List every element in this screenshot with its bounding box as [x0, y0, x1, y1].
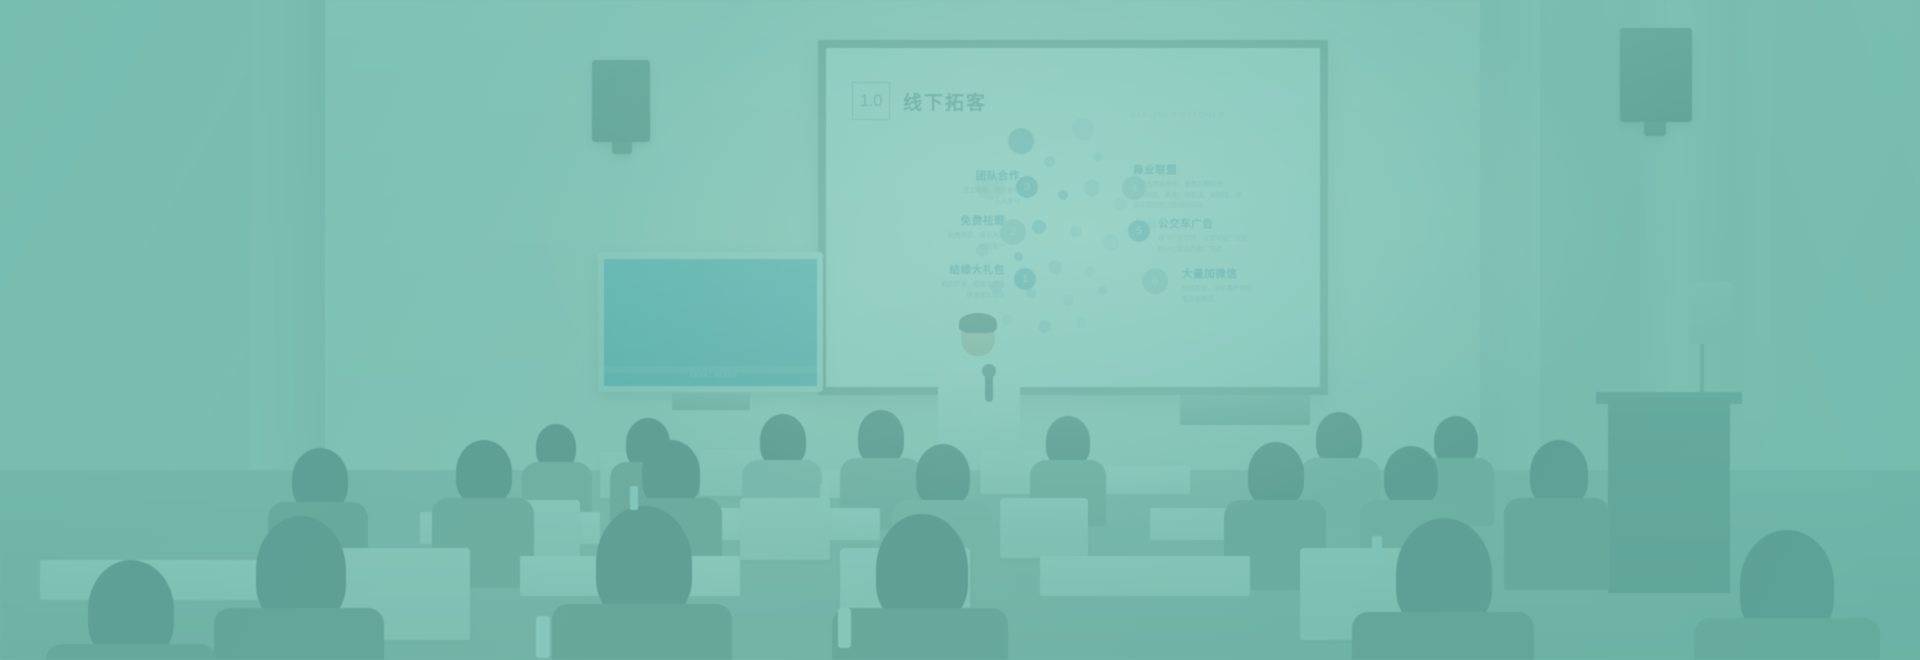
classroom-photograph: 1.0 线下拓客 OFFLINE CUSTOMER 团队合作 分工明确，团队协作… — [0, 0, 1920, 660]
water-bottle — [838, 608, 851, 648]
bubble — [1070, 226, 1081, 237]
wall-pillar — [250, 0, 325, 500]
audience-body-foreground — [1694, 618, 1880, 660]
slide-number-badge: 1.0 — [852, 82, 890, 120]
desk — [1040, 556, 1250, 596]
slide-marker-2: 2 — [1000, 219, 1026, 245]
audience-head — [916, 444, 970, 506]
audience-head — [1316, 412, 1362, 464]
audience-body-foreground — [552, 604, 732, 660]
audience-head — [1046, 416, 1090, 466]
water-bottle — [536, 616, 550, 658]
water-bottle — [630, 486, 638, 510]
audience-head — [456, 440, 512, 504]
wall-monitor-mount — [672, 392, 750, 410]
slide-item-bus-advertising: 公交车广告 线下广告宣传，公交车站广告是 性价比最高的推广方式 — [1158, 216, 1247, 255]
bubble — [1008, 128, 1034, 154]
audience-head — [292, 448, 348, 510]
bubble — [1014, 252, 1023, 261]
audience-body-foreground — [1352, 612, 1534, 660]
bubble — [1044, 156, 1055, 167]
ceiling-speaker-left — [592, 60, 650, 142]
audience-head — [1384, 446, 1438, 506]
slide-item-gift-package: 结缘大礼包 到店即送，低成本获客 快速建立信任 — [880, 262, 1005, 301]
slide-item-cross-industry-alliance: 异业联盟 与周边商家合作，免费互相引流 如美甲店、美发、服装店、瑜伽馆、健 身房… — [1133, 162, 1242, 212]
water-bottle — [1372, 536, 1382, 564]
flag-cloth — [1690, 282, 1732, 344]
bubble — [1114, 198, 1126, 210]
bubble — [1032, 220, 1046, 234]
slide-item-team-cooperation: 团队合作 分工明确，团队协作 人人参与 — [905, 168, 1020, 207]
ceiling-speaker-left-mount — [612, 142, 632, 154]
bubble — [1094, 152, 1103, 161]
slide-marker-5: 5 — [1128, 220, 1150, 242]
bubble — [1038, 320, 1051, 333]
wall-monitor-band — [604, 366, 817, 373]
audience-head — [642, 440, 700, 506]
bubble — [1084, 266, 1095, 277]
wall-monitor-logo: SMART BOARD — [690, 373, 738, 379]
bubble — [1058, 190, 1068, 200]
slide-title-row: 1.0 线下拓客 — [852, 82, 987, 120]
bubble — [1048, 260, 1062, 274]
presenter-microphone-head — [982, 364, 996, 378]
ceiling-speaker-right — [1620, 28, 1692, 122]
hero-banner: 1.0 线下拓客 OFFLINE CUSTOMER 团队合作 分工明确，团队协作… — [0, 0, 1920, 660]
bubble — [1098, 286, 1107, 295]
audience-head — [760, 414, 806, 466]
audience-body-foreground — [46, 644, 216, 660]
audience-head — [1434, 416, 1478, 464]
bubble — [1072, 118, 1094, 140]
audience-head — [1248, 442, 1304, 506]
bubble — [1102, 234, 1119, 251]
slide-marker-1: 1 — [1014, 268, 1036, 290]
audience-head-foreground — [596, 506, 692, 620]
water-bottle — [820, 484, 829, 510]
bubble — [1076, 318, 1086, 328]
slide-marker-3: 3 — [1016, 176, 1038, 198]
bubble — [1084, 180, 1100, 196]
chair — [740, 498, 830, 560]
bubble — [1062, 294, 1074, 306]
audience-body — [1504, 498, 1610, 590]
equipment-cabinet — [1608, 398, 1730, 593]
slide-title: 线下拓客 — [903, 88, 987, 115]
bubble — [1002, 314, 1013, 325]
wall-right-panel — [1480, 0, 1540, 500]
projection-screen-stand — [1180, 395, 1310, 425]
slide-marker-6: 6 — [1142, 268, 1168, 294]
slide-item-free-freckle-removal: 免费祛斑 免费体验，吸引人流 转化客户 — [890, 213, 1005, 252]
audience-body-foreground — [832, 608, 1008, 660]
slide-subtitle: OFFLINE CUSTOMER — [1130, 112, 1225, 119]
ceiling-speaker-right-mount — [1644, 122, 1666, 136]
audience-head — [1530, 440, 1588, 506]
audience-body-foreground — [214, 608, 384, 660]
audience-head — [858, 410, 904, 464]
slide-item-add-wechat: 大量加微信 创造机会，添加客户微信 量变到质变 — [1182, 266, 1252, 305]
presenter-hair — [959, 313, 997, 333]
chair — [1000, 498, 1088, 558]
